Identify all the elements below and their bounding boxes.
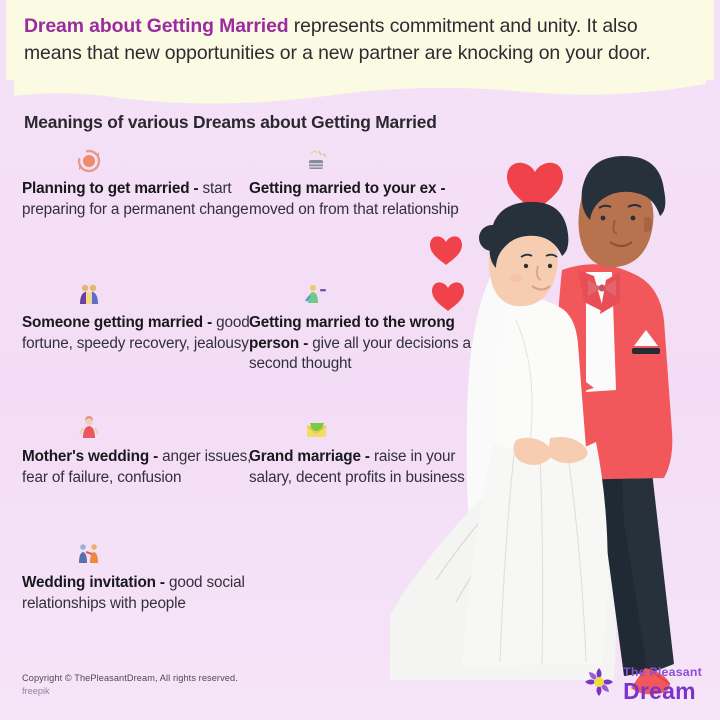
list-item-text: Getting married to your ex - moved on fr…: [249, 179, 479, 220]
person-rejected-icon: [301, 280, 479, 310]
section-title: Meanings of various Dreams about Getting…: [24, 112, 437, 133]
list-item-title: Getting married to your ex -: [249, 180, 445, 197]
wedding-couple-icon: [74, 280, 252, 310]
infographic-poster: Dream about Getting Married represents c…: [0, 0, 720, 720]
list-item-text: Wedding invitation - good social relatio…: [22, 573, 252, 614]
banner-text: Dream about Getting Married represents c…: [24, 13, 700, 66]
list-item-title: Wedding invitation -: [22, 574, 165, 591]
list-item: Planning to get married - start preparin…: [22, 146, 252, 220]
money-envelope-icon: [301, 414, 479, 444]
list-item-text: Grand marriage - raise in your salary, d…: [249, 447, 479, 488]
list-item-text: Planning to get married - start preparin…: [22, 179, 252, 220]
list-item-title: Grand marriage -: [249, 448, 370, 465]
list-item-text: Someone getting married - good fortune, …: [22, 313, 252, 354]
credit-text: freepik: [22, 685, 238, 698]
list-item-text: Mother's wedding - anger issues, fear of…: [22, 447, 252, 488]
list-item: Grand marriage - raise in your salary, d…: [249, 414, 479, 488]
logo-top-text: The Pleasant: [623, 666, 702, 678]
banner-highlight: Dream about Getting Married: [24, 15, 289, 37]
flower-logo-icon: [582, 665, 616, 704]
list-item-title: Planning to get married -: [22, 180, 198, 197]
heart-large-icon: [507, 163, 563, 211]
list-item: Mother's wedding - anger issues, fear of…: [22, 414, 252, 488]
brand-logo: The Pleasant Dream: [582, 665, 702, 704]
list-item: Wedding invitation - good social relatio…: [22, 540, 252, 614]
list-item-title: Someone getting married -: [22, 314, 212, 331]
gift-box-icon: [301, 146, 479, 176]
two-people-icon: [74, 540, 252, 570]
meanings-list: Planning to get married - start preparin…: [0, 140, 500, 660]
list-item: Someone getting married - good fortune, …: [22, 280, 252, 354]
copyright-text: Copyright © ThePleasantDream, All rights…: [22, 672, 238, 685]
header-banner: Dream about Getting Married represents c…: [0, 0, 720, 112]
recycle-icon: [74, 146, 252, 176]
list-item-body: moved on from that relationship: [249, 201, 459, 218]
list-item: Getting married to your ex - moved on fr…: [249, 146, 479, 220]
list-item: Getting married to the wrong person - gi…: [249, 280, 479, 375]
footer-copyright-block: Copyright © ThePleasantDream, All rights…: [22, 672, 238, 698]
logo-text-block: The Pleasant Dream: [623, 666, 702, 702]
list-item-text: Getting married to the wrong person - gi…: [249, 313, 479, 375]
mother-icon: [74, 414, 252, 444]
logo-bottom-text: Dream: [623, 680, 702, 703]
list-item-title: Mother's wedding -: [22, 448, 158, 465]
